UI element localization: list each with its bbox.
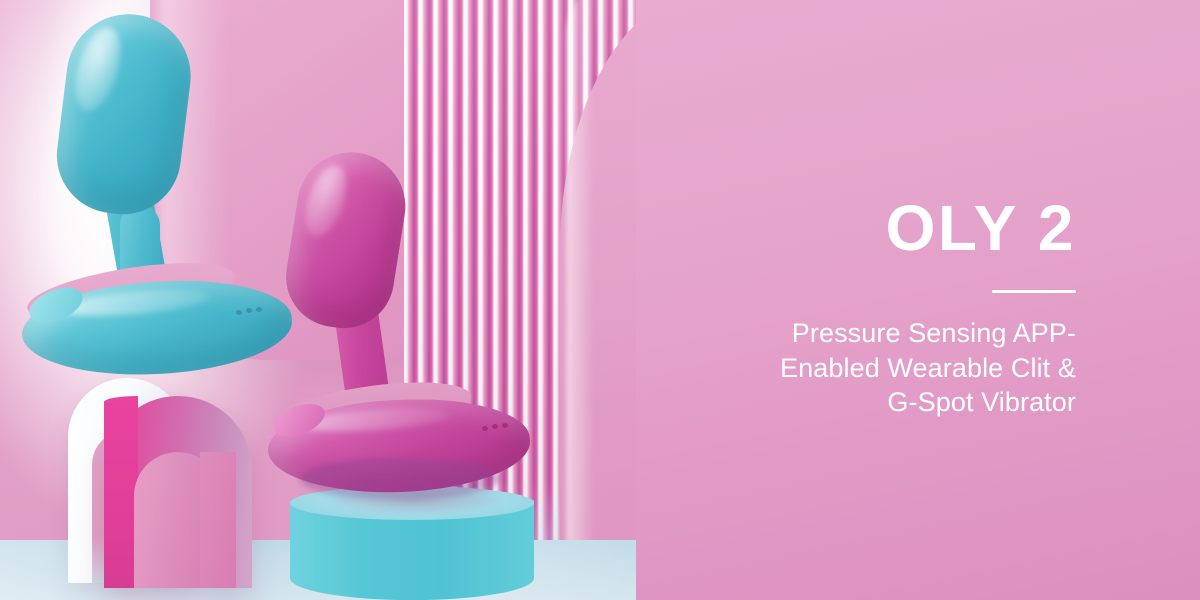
- pink-product-button-2: [492, 424, 498, 429]
- teal-product-button-2: [246, 308, 252, 313]
- product-banner: OLY 2 Pressure Sensing APP- Enabled Wear…: [0, 0, 1200, 600]
- teal-product-button-1: [236, 310, 242, 315]
- panel-arch-highlight: [566, 0, 592, 600]
- pink-arch-front-face: [104, 396, 138, 588]
- text-panel: OLY 2 Pressure Sensing APP- Enabled Wear…: [636, 0, 1200, 600]
- teal-product-button-3: [256, 307, 262, 312]
- pink-arch-leg: [200, 452, 236, 588]
- product-title: OLY 2: [696, 196, 1076, 260]
- pink-product-button-3: [502, 423, 508, 428]
- text-panel-content: OLY 2 Pressure Sensing APP- Enabled Wear…: [696, 196, 1076, 420]
- product-scene: [0, 0, 660, 600]
- product-subtitle: Pressure Sensing APP- Enabled Wearable C…: [696, 316, 1076, 420]
- pink-product-button-1: [482, 426, 488, 431]
- subtitle-line-3: G-Spot Vibrator: [696, 385, 1076, 420]
- title-divider: [992, 290, 1076, 293]
- subtitle-line-2: Enabled Wearable Clit &: [696, 351, 1076, 386]
- subtitle-line-1: Pressure Sensing APP-: [696, 316, 1076, 351]
- pink-product-arm-underside: [300, 458, 500, 500]
